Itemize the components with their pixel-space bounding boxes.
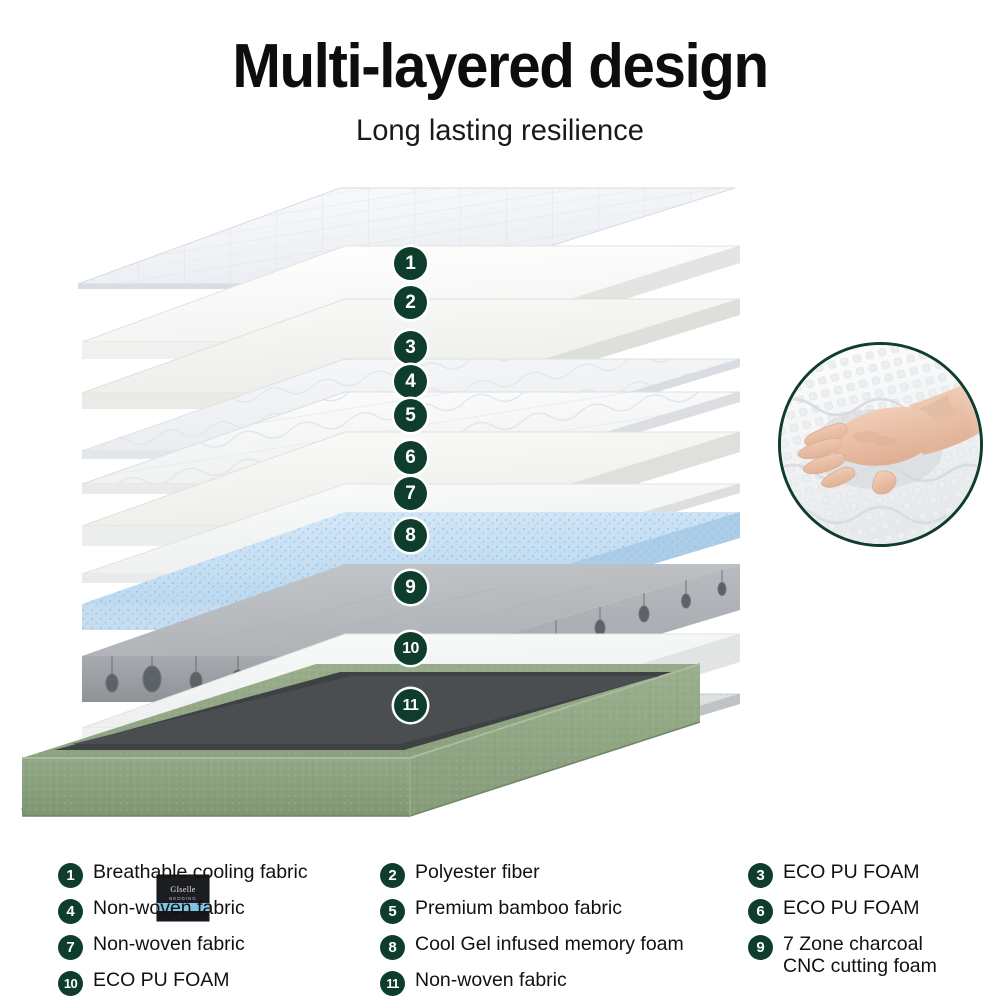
legend-badge-3: 3 xyxy=(748,863,773,888)
layer-badge-7: 7 xyxy=(394,477,427,510)
legend-label-2: Polyester fiber xyxy=(415,862,540,884)
legend-item-5: 5Premium bamboo fabric xyxy=(380,898,622,924)
layer-badge-1: 1 xyxy=(394,247,427,280)
legend-badge-4: 4 xyxy=(58,899,83,924)
legend-item-1: 1Breathable cooling fabric xyxy=(58,862,308,888)
layer-badge-11: 11 xyxy=(394,689,427,722)
legend-badge-7: 7 xyxy=(58,935,83,960)
legend-item-11: 11Non-woven fabric xyxy=(380,970,567,996)
page-title: Multi-layered design xyxy=(30,36,970,98)
legend-item-9: 97 Zone charcoal CNC cutting foam xyxy=(748,934,937,978)
layer-badge-10: 10 xyxy=(394,632,427,665)
legend-badge-2: 2 xyxy=(380,863,405,888)
legend-badge-10: 10 xyxy=(58,971,83,996)
hand-pressing-mattress-photo xyxy=(778,342,983,547)
page-subtitle: Long lasting resilience xyxy=(15,114,985,148)
legend-item-3: 3ECO PU FOAM xyxy=(748,862,920,888)
legend-badge-1: 1 xyxy=(58,863,83,888)
layer-badge-8: 8 xyxy=(394,519,427,552)
legend-label-3: ECO PU FOAM xyxy=(783,862,920,884)
layer-badge-6: 6 xyxy=(394,441,427,474)
layer-badge-3: 3 xyxy=(394,331,427,364)
legend-item-4: 4Non-woven fabric xyxy=(58,898,245,924)
legend-label-7: Non-woven fabric xyxy=(93,934,245,956)
legend-label-8: Cool Gel infused memory foam xyxy=(415,934,684,956)
mattress-base-green-body xyxy=(0,640,780,840)
legend-badge-9: 9 xyxy=(748,935,773,960)
legend-badge-8: 8 xyxy=(380,935,405,960)
header: Multi-layered design Long lasting resili… xyxy=(0,0,1000,148)
legend-label-5: Premium bamboo fabric xyxy=(415,898,622,920)
legend: 1Breathable cooling fabric4Non-woven fab… xyxy=(0,848,1000,1000)
legend-badge-11: 11 xyxy=(380,971,405,996)
legend-label-6: ECO PU FOAM xyxy=(783,898,920,920)
legend-label-9: 7 Zone charcoal CNC cutting foam xyxy=(783,934,937,978)
legend-label-1: Breathable cooling fabric xyxy=(93,862,308,884)
legend-label-4: Non-woven fabric xyxy=(93,898,245,920)
layer-badge-2: 2 xyxy=(394,286,427,319)
layer-badge-5: 5 xyxy=(394,399,427,432)
legend-label-10: ECO PU FOAM xyxy=(93,970,230,992)
legend-badge-5: 5 xyxy=(380,899,405,924)
legend-item-8: 8Cool Gel infused memory foam xyxy=(380,934,684,960)
legend-item-10: 10ECO PU FOAM xyxy=(58,970,230,996)
legend-item-7: 7Non-woven fabric xyxy=(58,934,245,960)
legend-badge-6: 6 xyxy=(748,899,773,924)
exploded-mattress-diagram: GIselle BEDDING 1234567891011 xyxy=(0,170,780,840)
legend-item-2: 2Polyester fiber xyxy=(380,862,540,888)
layer-badge-9: 9 xyxy=(394,571,427,604)
legend-item-6: 6ECO PU FOAM xyxy=(748,898,920,924)
layer-badge-4: 4 xyxy=(394,365,427,398)
legend-label-11: Non-woven fabric xyxy=(415,970,567,992)
